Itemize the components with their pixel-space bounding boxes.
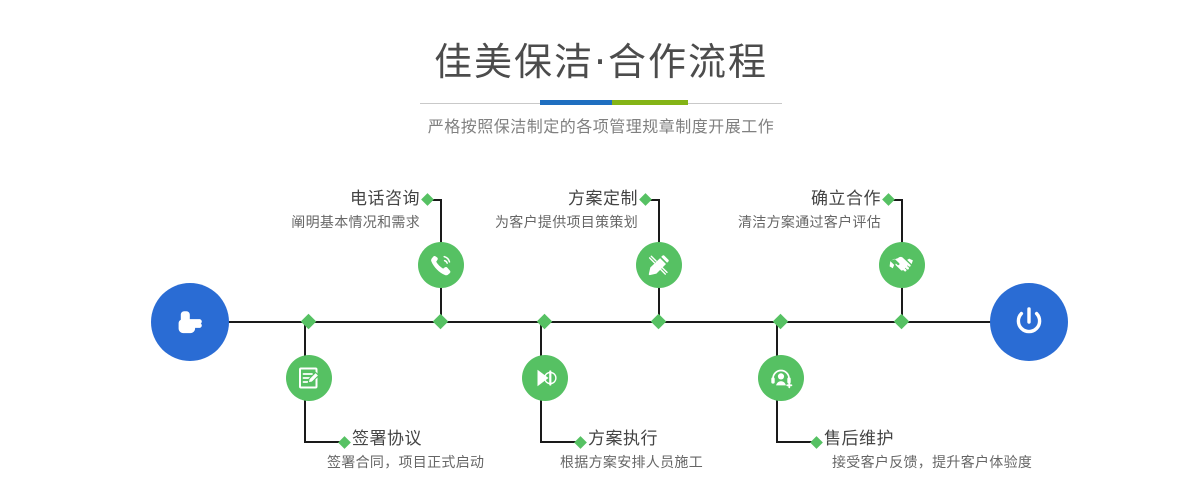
play-execute-icon [532, 365, 558, 391]
node-icon-step-5[interactable] [879, 242, 925, 288]
label-step-6-title: 售后维护 [824, 428, 1032, 450]
label-step-3-desc: 为客户提供项目策策划 [495, 212, 638, 234]
divider-segment-green [612, 100, 688, 105]
label-step-6: 售后维护 接受客户反馈，提升客户体验度 [824, 428, 1032, 474]
connector-step-2-h [304, 441, 341, 443]
node-icon-step-1[interactable] [418, 242, 464, 288]
handshake-icon [888, 251, 916, 279]
node-icon-step-4[interactable] [522, 355, 568, 401]
label-step-1-tip [421, 193, 434, 206]
title-divider [420, 100, 782, 106]
flow-infographic: 佳美保洁·合作流程 严格按照保洁制定的各项管理规章制度开展工作 电话咨询 阐明基… [0, 0, 1202, 502]
label-step-3-title: 方案定制 [495, 188, 638, 210]
label-step-6-tip [810, 436, 823, 449]
label-step-1-desc: 阐明基本情况和需求 [291, 212, 420, 234]
divider-segment-blue [540, 100, 612, 105]
support-agent-add-icon [768, 365, 794, 391]
label-step-4: 方案执行 根据方案安排人员施工 [588, 428, 703, 474]
page-subtitle: 严格按照保洁制定的各项管理规章制度开展工作 [0, 106, 1202, 139]
label-step-5-title: 确立合作 [738, 188, 881, 210]
header: 佳美保洁·合作流程 严格按照保洁制定的各项管理规章制度开展工作 [0, 0, 1202, 139]
label-step-2-desc: 签署合同，项目正式启动 [327, 452, 484, 474]
node-icon-step-2[interactable] [286, 355, 332, 401]
node-icon-step-6[interactable] [758, 355, 804, 401]
pointing-hand-icon [170, 302, 210, 342]
label-step-1: 电话咨询 阐明基本情况和需求 [291, 188, 420, 234]
document-edit-icon [296, 365, 322, 391]
label-step-2-tip [338, 436, 351, 449]
node-icon-step-3[interactable] [636, 242, 682, 288]
phone-call-icon [427, 251, 455, 279]
label-step-5-desc: 清洁方案通过客户评估 [738, 212, 881, 234]
flow-start-node[interactable] [151, 283, 229, 361]
label-step-5: 确立合作 清洁方案通过客户评估 [738, 188, 881, 234]
label-step-2-title: 签署协议 [352, 428, 484, 450]
flow-end-node[interactable] [990, 283, 1068, 361]
label-step-5-tip [882, 193, 895, 206]
connector-step-4-h [540, 441, 577, 443]
label-step-3-tip [639, 193, 652, 206]
label-step-4-desc: 根据方案安排人员施工 [560, 452, 703, 474]
label-step-4-tip [574, 436, 587, 449]
axis-diamond-step-1 [433, 314, 449, 330]
pencil-ruler-icon [645, 251, 673, 279]
label-step-4-title: 方案执行 [588, 428, 703, 450]
label-step-6-desc: 接受客户反馈，提升客户体验度 [832, 452, 1032, 474]
label-step-2: 签署协议 签署合同，项目正式启动 [352, 428, 484, 474]
axis-diamond-step-5 [894, 314, 910, 330]
label-step-1-title: 电话咨询 [291, 188, 420, 210]
axis-diamond-step-3 [651, 314, 667, 330]
label-step-3: 方案定制 为客户提供项目策策划 [495, 188, 638, 234]
power-icon [1008, 301, 1050, 343]
page-title: 佳美保洁·合作流程 [0, 0, 1202, 86]
timeline-axis [155, 321, 1047, 323]
connector-step-6-h [776, 441, 813, 443]
